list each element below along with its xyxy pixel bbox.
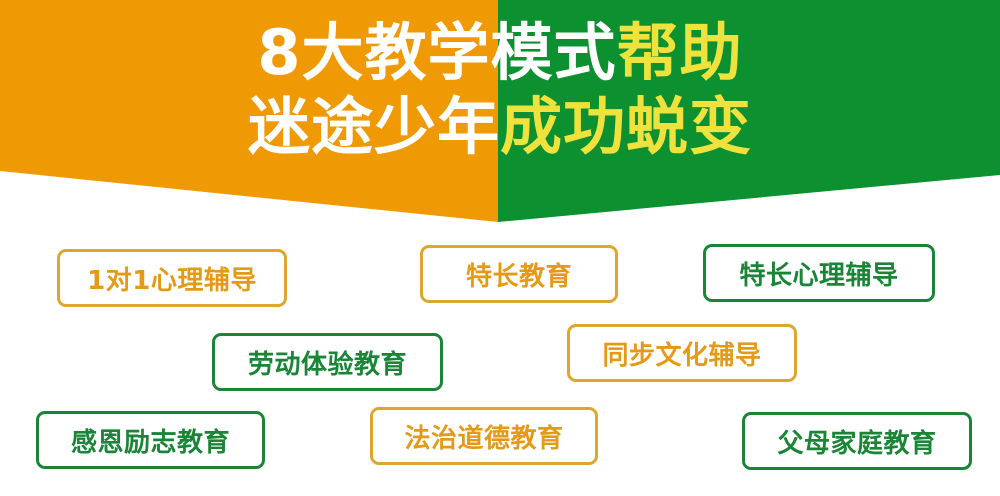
program-tag[interactable]: 劳动体验教育 (212, 333, 443, 391)
banner-green-half (498, 0, 1000, 222)
program-tag[interactable]: 同步文化辅导 (567, 324, 797, 382)
poster-root: 8大教学模式帮助 迷途少年成功蜕变 1对1心理辅导特长教育特长心理辅导劳动体验教… (0, 0, 1000, 496)
program-tag-label: 法治道德教育 (404, 418, 563, 455)
program-tag[interactable]: 父母家庭教育 (742, 412, 972, 470)
program-tag[interactable]: 感恩励志教育 (36, 411, 265, 469)
program-tag[interactable]: 1对1心理辅导 (57, 249, 287, 307)
program-tag-label: 劳动体验教育 (248, 344, 407, 381)
program-tag-label: 特长心理辅导 (739, 255, 898, 292)
program-tag[interactable]: 法治道德教育 (370, 407, 598, 465)
program-tag-label: 感恩励志教育 (71, 422, 230, 459)
program-tag-label: 同步文化辅导 (602, 335, 761, 372)
banner-orange-half (0, 0, 498, 222)
program-tag-label: 父母家庭教育 (777, 423, 936, 460)
program-tag-label: 1对1心理辅导 (87, 260, 257, 297)
program-tag[interactable]: 特长心理辅导 (703, 244, 935, 302)
program-tag-label: 特长教育 (466, 256, 572, 293)
program-tag[interactable]: 特长教育 (420, 245, 618, 303)
banner-background-shape (0, 0, 1000, 225)
program-tag-list: 1对1心理辅导特长教育特长心理辅导劳动体验教育同步文化辅导感恩励志教育法治道德教… (0, 225, 1000, 496)
header-banner: 8大教学模式帮助 迷途少年成功蜕变 (0, 0, 1000, 225)
